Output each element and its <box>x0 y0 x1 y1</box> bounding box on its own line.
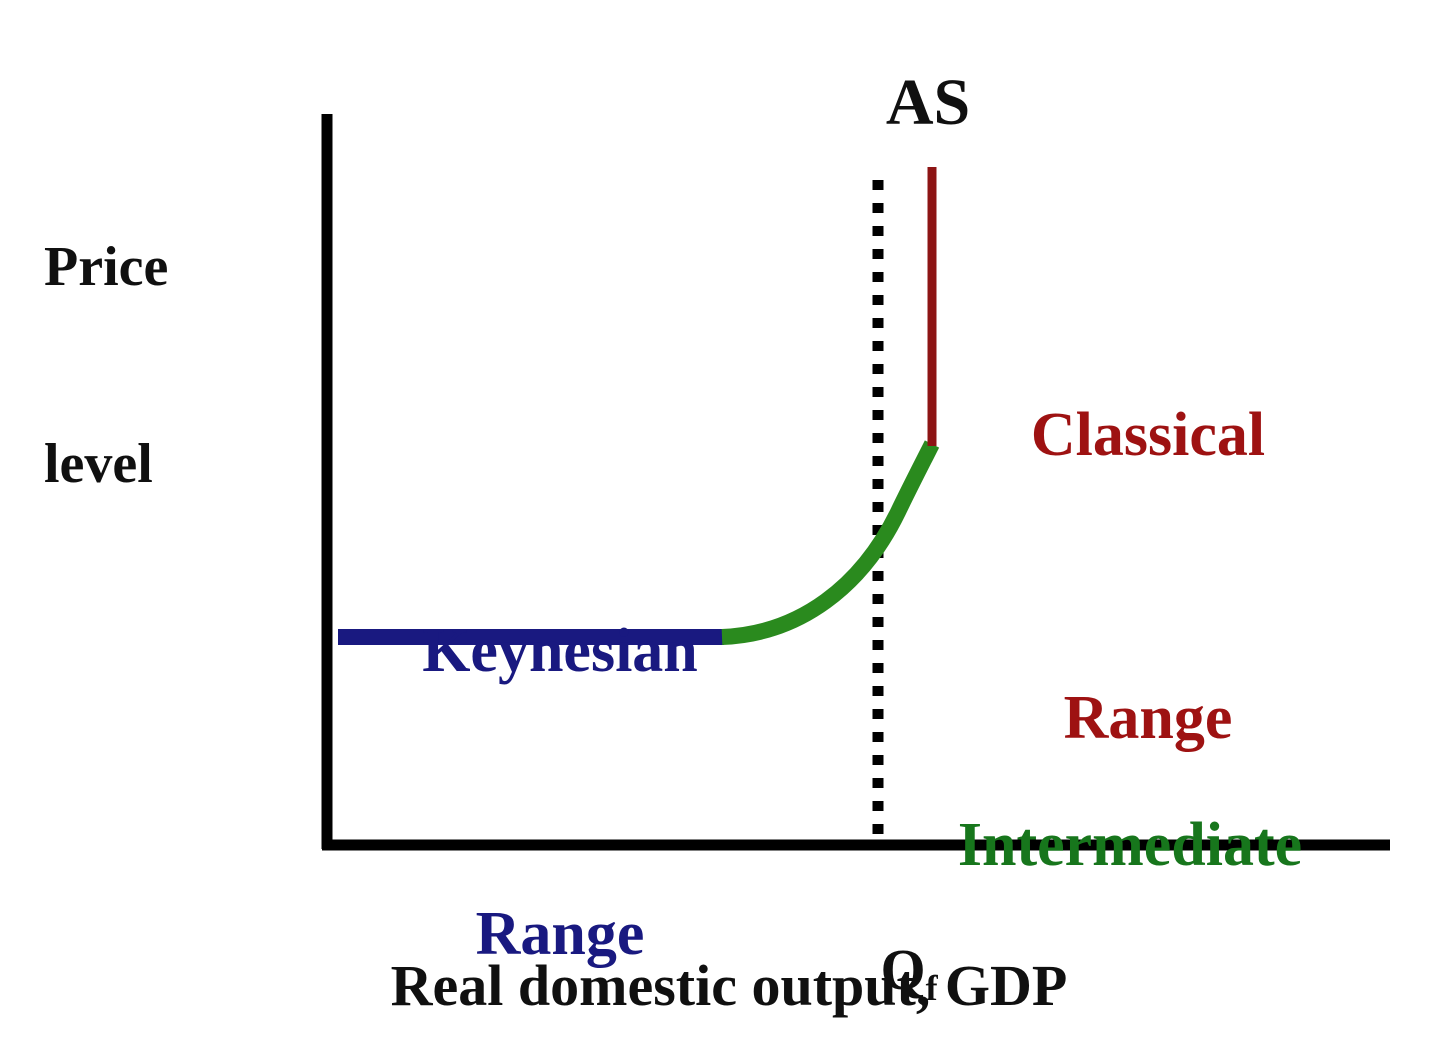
x-axis-title: Real domestic output, GDP <box>0 955 1440 1016</box>
keynesian-range-label: Keynesian Range <box>330 416 790 1039</box>
y-axis-title: Price level <box>44 104 168 628</box>
keynesian-range-label-line1: Keynesian <box>330 604 790 698</box>
y-axis-title-line2: level <box>44 432 168 498</box>
as-curve-figure: Price level AS Classical Range Keynesian… <box>0 0 1440 1039</box>
y-axis-title-line1: Price <box>44 235 168 301</box>
as-curve-label: AS <box>838 68 1018 138</box>
classical-range-label-line1: Classical <box>968 388 1328 482</box>
